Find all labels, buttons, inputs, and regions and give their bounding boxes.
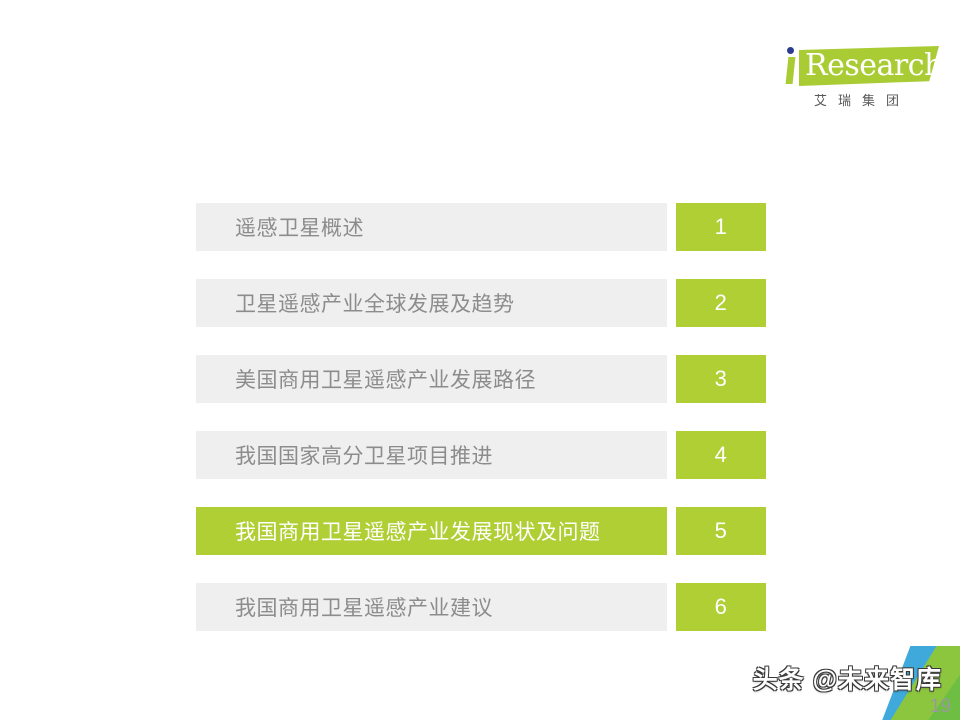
agenda-list: 遥感卫星概述 1 卫星遥感产业全球发展及趋势 2 美国商用卫星遥感产业发展路径 … [196,203,766,631]
agenda-item-divider [667,355,676,403]
agenda-item-divider [667,507,676,555]
agenda-item-1[interactable]: 遥感卫星概述 1 [196,203,766,251]
agenda-item-label: 美国商用卫星遥感产业发展路径 [196,355,667,403]
agenda-item-3[interactable]: 美国商用卫星遥感产业发展路径 3 [196,355,766,403]
agenda-item-label: 我国商用卫星遥感产业发展现状及问题 [196,507,667,555]
agenda-item-label: 卫星遥感产业全球发展及趋势 [196,279,667,327]
logo-wordmark: Research [805,48,943,84]
logo-mark: Research [783,44,943,88]
agenda-item-number: 3 [676,355,766,403]
agenda-item-6[interactable]: 我国商用卫星遥感产业建议 6 [196,583,766,631]
agenda-item-divider [667,431,676,479]
logo-i-stem-icon [786,57,796,84]
agenda-item-label: 我国商用卫星遥感产业建议 [196,583,667,631]
agenda-item-2[interactable]: 卫星遥感产业全球发展及趋势 2 [196,279,766,327]
agenda-item-number: 2 [676,279,766,327]
agenda-item-divider [667,203,676,251]
agenda-item-4[interactable]: 我国国家高分卫星项目推进 4 [196,431,766,479]
agenda-item-divider [667,279,676,327]
agenda-item-label: 我国国家高分卫星项目推进 [196,431,667,479]
agenda-item-number: 6 [676,583,766,631]
slide-canvas: Research 艾瑞集团 遥感卫星概述 1 卫星遥感产业全球发展及趋势 2 美… [0,0,960,720]
agenda-item-label: 遥感卫星概述 [196,203,667,251]
iresearch-logo: Research 艾瑞集团 [783,44,943,116]
agenda-item-number: 5 [676,507,766,555]
logo-subtitle: 艾瑞集团 [786,90,938,109]
agenda-item-divider [667,583,676,631]
agenda-item-number: 1 [676,203,766,251]
logo-i-dot-icon [787,47,794,54]
watermark-text: 头条 @未来智库 [753,660,942,696]
page-number: 19 [930,696,951,718]
agenda-item-5-active[interactable]: 我国商用卫星遥感产业发展现状及问题 5 [196,507,766,555]
agenda-item-number: 4 [676,431,766,479]
